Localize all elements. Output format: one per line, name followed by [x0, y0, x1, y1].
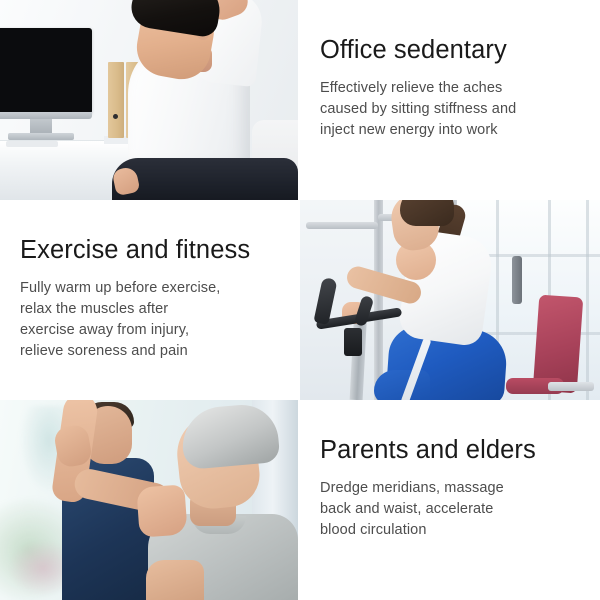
- image-panel-office: [0, 0, 298, 200]
- window-mullion-3: [586, 200, 589, 400]
- fitness-body-line-3: exercise away from injury,: [20, 320, 280, 341]
- elders-body: Dredge meridians, massage back and waist…: [320, 478, 582, 541]
- text-panel-elders: Parents and elders Dredge meridians, mas…: [300, 400, 600, 600]
- office-heading: Office sedentary: [320, 36, 582, 64]
- bike-console: [344, 328, 362, 356]
- row-office: Office sedentary Effectively relieve the…: [0, 0, 600, 200]
- row-fitness: Exercise and fitness Fully warm up befor…: [0, 200, 600, 400]
- office-text-block: Office sedentary Effectively relieve the…: [300, 0, 600, 200]
- fitness-body: Fully warm up before exercise, relax the…: [20, 278, 280, 362]
- feature-panel-collage: Office sedentary Effectively relieve the…: [0, 0, 600, 600]
- keyboard-icon: [6, 141, 58, 147]
- office-photo: [0, 0, 298, 200]
- gym-bench-leg: [548, 382, 594, 391]
- image-panel-therapy: [0, 400, 298, 600]
- monitor-foot: [8, 133, 74, 140]
- therapist-hand-on-shoulder: [136, 484, 187, 537]
- office-body-line-3: inject new energy into work: [320, 120, 582, 141]
- monitor-bezel: [0, 112, 92, 119]
- fitness-body-line-2: relax the muscles after: [20, 299, 280, 320]
- man-trousers: [112, 158, 298, 200]
- binder-hole-1: [113, 114, 118, 119]
- elders-body-line-2: back and waist, accelerate: [320, 499, 582, 520]
- fitness-heading: Exercise and fitness: [20, 236, 280, 264]
- row-elders: Parents and elders Dredge meridians, mas…: [0, 400, 600, 600]
- office-body-line-1: Effectively relieve the aches: [320, 78, 582, 99]
- fitness-body-line-4: relieve soreness and pain: [20, 341, 280, 362]
- elders-text-block: Parents and elders Dredge meridians, mas…: [300, 400, 600, 600]
- office-body: Effectively relieve the aches caused by …: [320, 78, 582, 141]
- elders-body-line-1: Dredge meridians, massage: [320, 478, 582, 499]
- image-panel-fitness: [300, 200, 600, 400]
- elders-heading: Parents and elders: [320, 436, 582, 464]
- office-body-line-2: caused by sitting stiffness and: [320, 99, 582, 120]
- binder-tan-1: [108, 62, 124, 138]
- rack-arm-1: [306, 222, 378, 229]
- elders-body-line-3: blood circulation: [320, 520, 582, 541]
- therapy-photo: [0, 400, 298, 600]
- gym-photo: [300, 200, 600, 400]
- elder-arm: [146, 560, 204, 600]
- fitness-text-block: Exercise and fitness Fully warm up befor…: [0, 200, 298, 400]
- dumbbell-rack: [512, 256, 522, 304]
- woman-hair: [400, 200, 454, 226]
- fitness-body-line-1: Fully warm up before exercise,: [20, 278, 280, 299]
- text-panel-office: Office sedentary Effectively relieve the…: [300, 0, 600, 200]
- monitor-screen-icon: [0, 28, 92, 114]
- rack-post-left: [374, 200, 383, 400]
- text-panel-fitness: Exercise and fitness Fully warm up befor…: [0, 200, 298, 400]
